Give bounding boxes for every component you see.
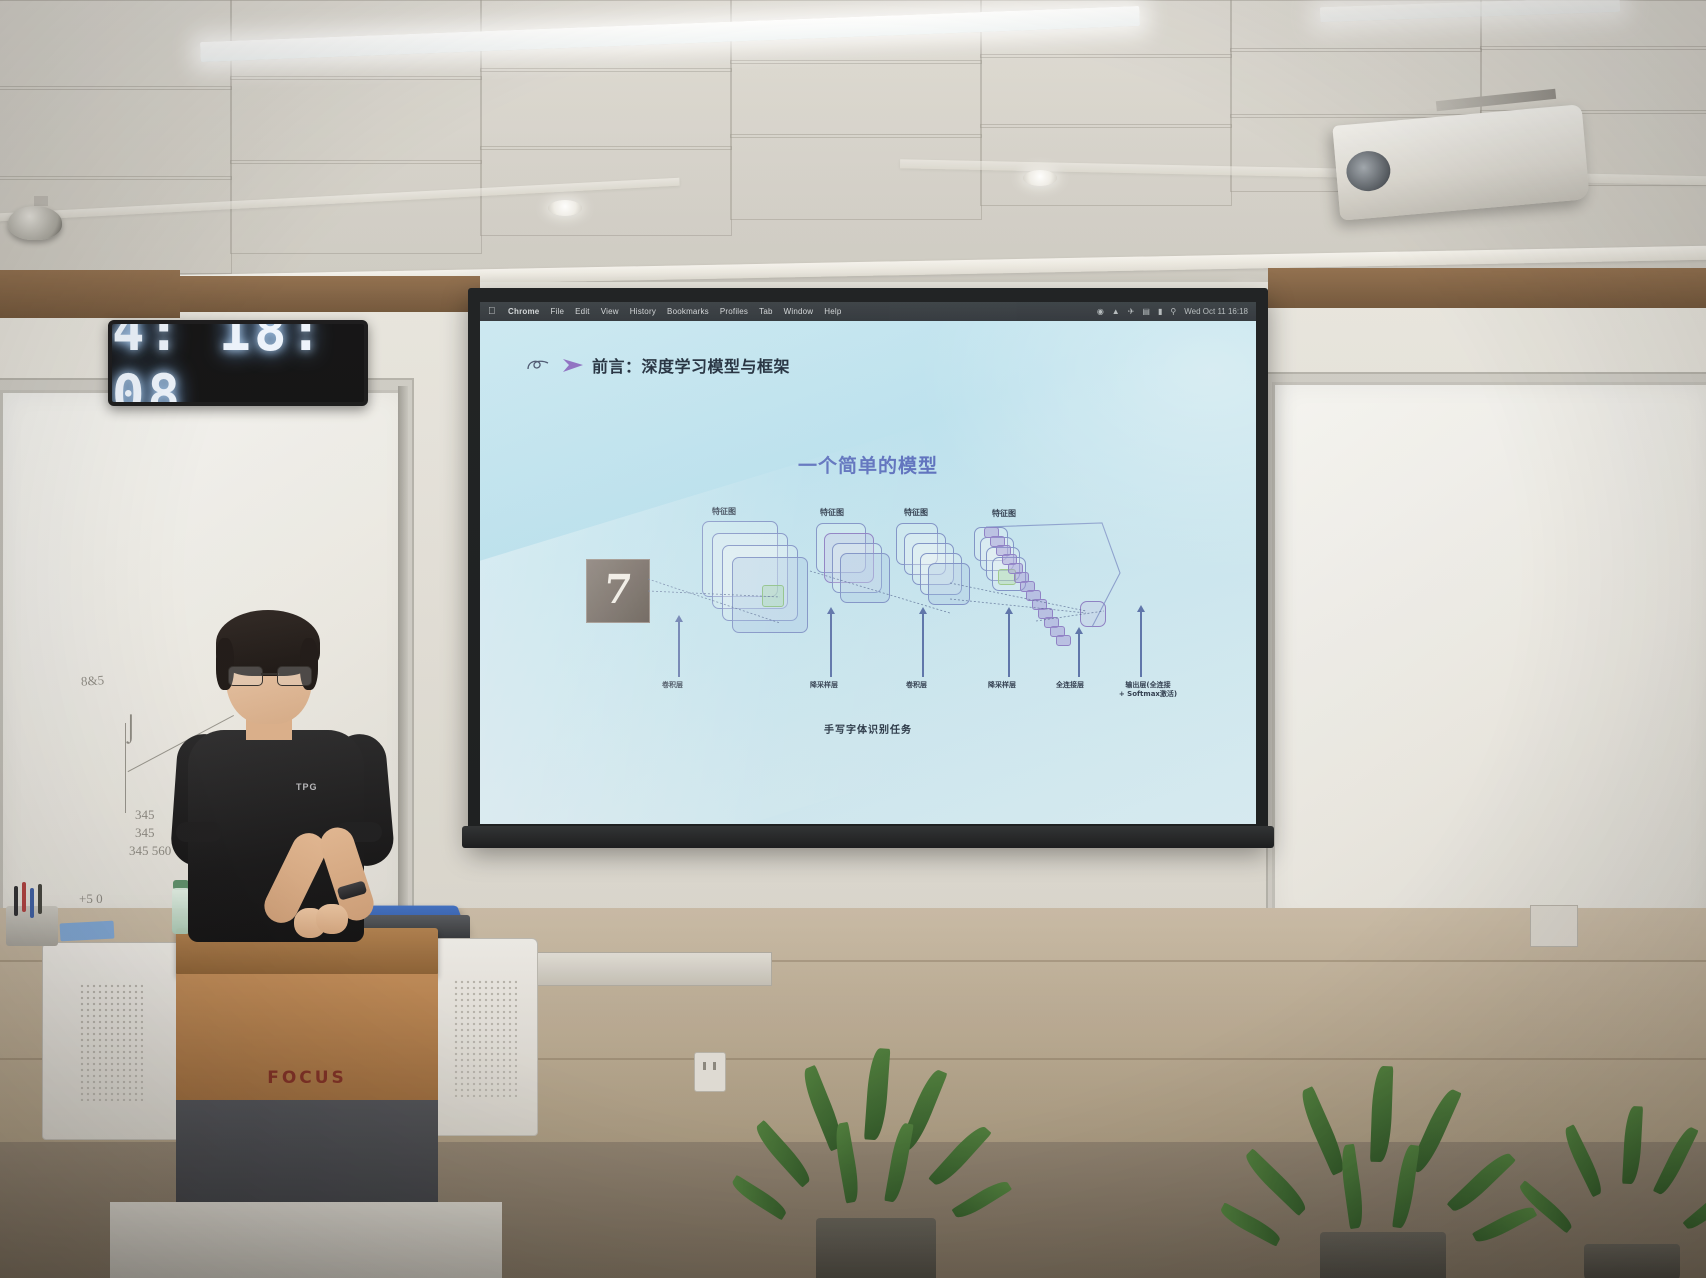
- menu-item-chrome[interactable]: Chrome: [508, 307, 539, 316]
- projection-screen:  Chrome File Edit View History Bookmark…: [468, 288, 1268, 844]
- layer-arrow-5: [1078, 633, 1080, 677]
- whiteboard-right: [1272, 382, 1706, 928]
- wall-box: [1530, 905, 1578, 947]
- wood-trim-center: [180, 276, 480, 312]
- lecture-hall-photo: 8&5 ⌡ 345 345 345 560 +5 0 4: 18: 08  C…: [0, 0, 1706, 1278]
- eyeglasses: [228, 666, 312, 684]
- pen-holder: [6, 906, 58, 946]
- menu-item-file[interactable]: File: [550, 307, 564, 316]
- lectern-base: [110, 1202, 502, 1278]
- security-camera: [8, 206, 62, 240]
- feature-map-label-4: 特征图: [992, 508, 1016, 519]
- swirl-decoration: [526, 355, 556, 375]
- layer-label-pool1: 降采样层: [810, 681, 838, 690]
- purple-arrow-icon: [562, 355, 586, 375]
- menu-item-edit[interactable]: Edit: [575, 307, 590, 316]
- apple-icon[interactable]: : [488, 307, 497, 317]
- layer-label-conv2: 卷积层: [906, 681, 927, 690]
- menu-item-view[interactable]: View: [601, 307, 619, 316]
- layer-label-pool2: 降采样层: [988, 681, 1016, 690]
- projected-display:  Chrome File Edit View History Bookmark…: [480, 302, 1256, 824]
- menubar-clock-text[interactable]: Wed Oct 11 16:18: [1184, 307, 1248, 316]
- shirt-logo-text: TPG: [296, 782, 318, 792]
- layer-label-fc: 全连接层: [1056, 681, 1084, 690]
- power-outlet: [694, 1052, 726, 1092]
- airplay-icon[interactable]: ✈: [1128, 307, 1135, 316]
- macos-menubar[interactable]:  Chrome File Edit View History Bookmark…: [480, 302, 1256, 321]
- feature-map-label-1: 特征图: [712, 506, 736, 517]
- lectern-lower-panel: [176, 1100, 438, 1206]
- layer-arrow-6: [1140, 611, 1142, 677]
- presenter-hand-right: [316, 904, 348, 934]
- layer-arrow-4: [1008, 613, 1010, 677]
- clock-time-display: 4: 18: 08: [112, 320, 364, 406]
- screen-record-icon[interactable]: ◉: [1097, 307, 1104, 316]
- feature-map-label-2: 特征图: [820, 507, 844, 518]
- wifi-icon[interactable]: ▲: [1112, 307, 1120, 316]
- menu-item-help[interactable]: Help: [824, 307, 841, 316]
- menu-item-bookmarks[interactable]: Bookmarks: [667, 307, 709, 316]
- slide-title-row: 前言：深度学习模型与框架: [526, 353, 790, 377]
- input-digit-glyph: 7: [585, 566, 652, 613]
- layer-label-output: 输出层(全连接 + Softmax激活): [1108, 681, 1188, 699]
- lectern-side-panel-left: [42, 942, 180, 1140]
- potted-plant-right: [1258, 1048, 1508, 1278]
- screen-bottom-bar: [462, 826, 1274, 848]
- feature-map-stack-3: [928, 563, 970, 605]
- menu-item-history[interactable]: History: [630, 307, 656, 316]
- presenter: TPG: [170, 612, 402, 942]
- search-icon[interactable]: ⚲: [1170, 307, 1176, 316]
- downlight: [548, 200, 582, 216]
- battery-icon[interactable]: ▮: [1158, 307, 1162, 316]
- paper-sheet: [60, 921, 115, 942]
- stage-ledge: [520, 952, 772, 986]
- potted-plant-left: [760, 1018, 990, 1278]
- task-label-text: 手写字体识别任务: [480, 721, 1256, 736]
- feature-map-active-window: [762, 585, 784, 607]
- lectern-brand-label: FOCUS: [176, 1068, 438, 1088]
- menu-item-tab[interactable]: Tab: [759, 307, 773, 316]
- menu-item-window[interactable]: Window: [784, 307, 814, 316]
- menu-item-profiles[interactable]: Profiles: [720, 307, 748, 316]
- potted-plant-far-right: [1540, 1092, 1706, 1278]
- lectern-side-panel-right: [436, 938, 538, 1136]
- control-center-icon[interactable]: ▤: [1142, 307, 1150, 316]
- feature-map-stack-2: [840, 553, 890, 603]
- digital-wall-clock: 4: 18: 08: [108, 320, 368, 406]
- downlight: [1023, 170, 1057, 186]
- slide-canvas: 前言：深度学习模型与框架 一个简单的模型 特征图 特征图 特征图 特征图 7: [480, 321, 1256, 824]
- wood-trim-right: [1268, 268, 1706, 308]
- slide-title-text: 前言：深度学习模型与框架: [592, 353, 790, 377]
- fully-connected-column: [980, 527, 1090, 657]
- slide-heading-text: 一个简单的模型: [480, 451, 1256, 478]
- layer-label-conv1: 卷积层: [662, 681, 683, 690]
- lectern: FOCUS: [26, 928, 522, 1278]
- feature-map-label-3: 特征图: [904, 507, 928, 518]
- layer-arrow-2: [830, 613, 832, 677]
- input-digit-image: 7: [586, 559, 650, 623]
- output-layer-box: [1080, 601, 1106, 627]
- layer-arrow-3: [922, 613, 924, 677]
- layer-arrow-1: [678, 621, 680, 677]
- projector-lens: [1345, 149, 1392, 193]
- wood-trim: [0, 270, 180, 318]
